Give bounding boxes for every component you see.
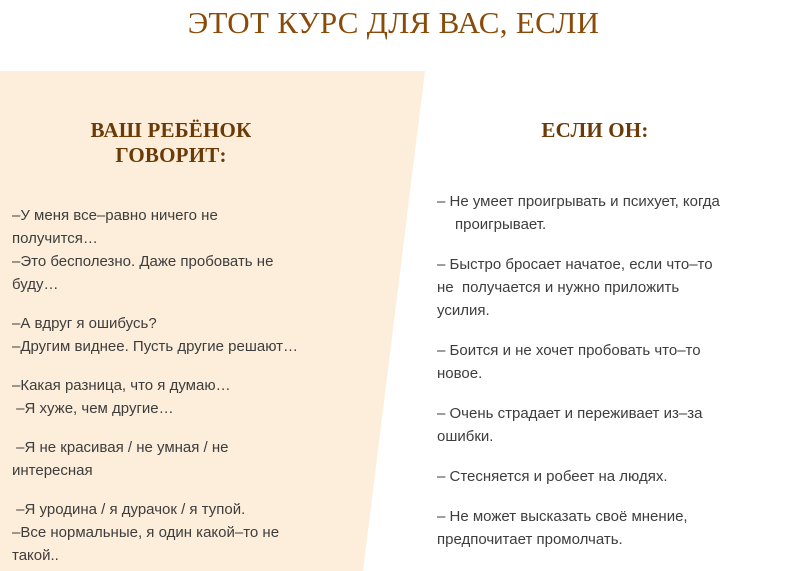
list-item-line: – Не умеет проигрывать и психует, когда bbox=[437, 190, 777, 213]
list-item-line: –Какая разница, что я думаю… bbox=[12, 374, 358, 397]
slide-root: ЭТОТ КУРС ДЛЯ ВАС, ЕСЛИ ВАШ РЕБЁНОК ГОВО… bbox=[0, 0, 787, 571]
list-item-line: не получается и нужно приложить bbox=[437, 276, 777, 299]
list-item-line: получится… bbox=[12, 227, 358, 250]
right-column: ЕСЛИ ОН: – Не умеет проигрывать и психуе… bbox=[437, 118, 777, 551]
list-item: – Не умеет проигрывать и психует, когдап… bbox=[437, 190, 777, 236]
list-item-line: такой.. bbox=[12, 544, 358, 567]
list-item: – Боится и не хочет пробовать что–тоново… bbox=[437, 339, 777, 385]
list-item-line: буду… bbox=[12, 273, 358, 296]
list-item-line: – Не может высказать своё мнение, bbox=[437, 505, 777, 528]
left-heading-line-1: ВАШ РЕБЁНОК bbox=[6, 118, 336, 143]
left-heading-line-2: ГОВОРИТ: bbox=[6, 143, 336, 168]
list-item-line: –А вдруг я ошибусь? bbox=[12, 312, 358, 335]
list-item: –Какая разница, что я думаю… –Я хуже, че… bbox=[12, 374, 358, 420]
list-item-line: –Это бесполезно. Даже пробовать не bbox=[12, 250, 358, 273]
list-item-line: – Очень страдает и переживает из–за bbox=[437, 402, 777, 425]
right-heading-line-1: ЕСЛИ ОН: bbox=[437, 118, 753, 143]
list-item: – Очень страдает и переживает из–заошибк… bbox=[437, 402, 777, 448]
list-item: –Я уродина / я дурачок / я тупой.–Все но… bbox=[12, 498, 358, 567]
list-item-line: новое. bbox=[437, 362, 777, 385]
left-column-heading: ВАШ РЕБЁНОК ГОВОРИТ: bbox=[6, 118, 336, 168]
list-item-line: –Все нормальные, я один какой–то не bbox=[12, 521, 358, 544]
list-item-line: усилия. bbox=[437, 299, 777, 322]
list-item: –А вдруг я ошибусь?–Другим виднее. Пусть… bbox=[12, 312, 358, 358]
list-item-line: –Я уродина / я дурачок / я тупой. bbox=[12, 498, 358, 521]
list-item-line: интересная bbox=[12, 459, 358, 482]
list-item-line: –Другим виднее. Пусть другие решают… bbox=[12, 335, 358, 358]
list-item: –Я не красивая / не умная / неинтересная bbox=[12, 436, 358, 482]
list-item-line: предпочитает промолчать. bbox=[437, 528, 777, 551]
list-item-line: –У меня все–равно ничего не bbox=[12, 204, 358, 227]
list-item-line: ошибки. bbox=[437, 425, 777, 448]
list-item: –У меня все–равно ничего неполучится…–Эт… bbox=[12, 204, 358, 296]
list-item-line: – Боится и не хочет пробовать что–то bbox=[437, 339, 777, 362]
list-item-line: – Стесняется и робеет на людях. bbox=[437, 465, 777, 488]
list-item: – Быстро бросает начатое, если что–тоне … bbox=[437, 253, 777, 322]
right-column-heading: ЕСЛИ ОН: bbox=[437, 118, 753, 143]
list-item-line: –Я хуже, чем другие… bbox=[12, 397, 358, 420]
list-item-line: –Я не красивая / не умная / не bbox=[12, 436, 358, 459]
page-title: ЭТОТ КУРС ДЛЯ ВАС, ЕСЛИ bbox=[0, 4, 787, 42]
list-item-line: – Быстро бросает начатое, если что–то bbox=[437, 253, 777, 276]
left-column-list: –У меня все–равно ничего неполучится…–Эт… bbox=[12, 204, 358, 567]
list-item: – Стесняется и робеет на людях. bbox=[437, 465, 777, 488]
right-column-list: – Не умеет проигрывать и психует, когдап… bbox=[437, 190, 777, 551]
left-column: ВАШ РЕБЁНОК ГОВОРИТ: –У меня все–равно н… bbox=[6, 118, 358, 567]
list-item: – Не может высказать своё мнение,предпоч… bbox=[437, 505, 777, 551]
list-item-line: проигрывает. bbox=[437, 213, 777, 236]
